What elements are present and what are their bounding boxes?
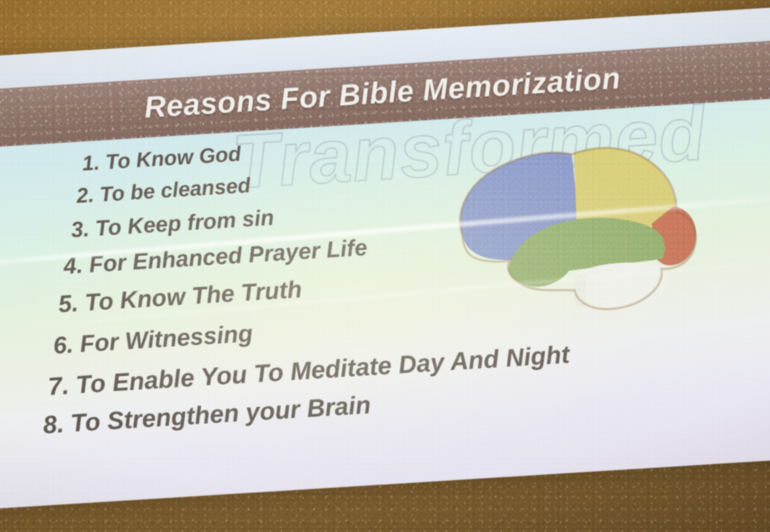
slide-surface: Transformed Reasons For Bible Memorizati… — [0, 6, 770, 509]
reasons-list: 1. To Know God 2. To be cleansed 3. To K… — [0, 125, 491, 448]
brain-diagram — [439, 116, 712, 322]
projection-screen: Transformed Reasons For Bible Memorizati… — [0, 6, 770, 509]
projected-slide-photo: Transformed Reasons For Bible Memorizati… — [0, 0, 770, 532]
